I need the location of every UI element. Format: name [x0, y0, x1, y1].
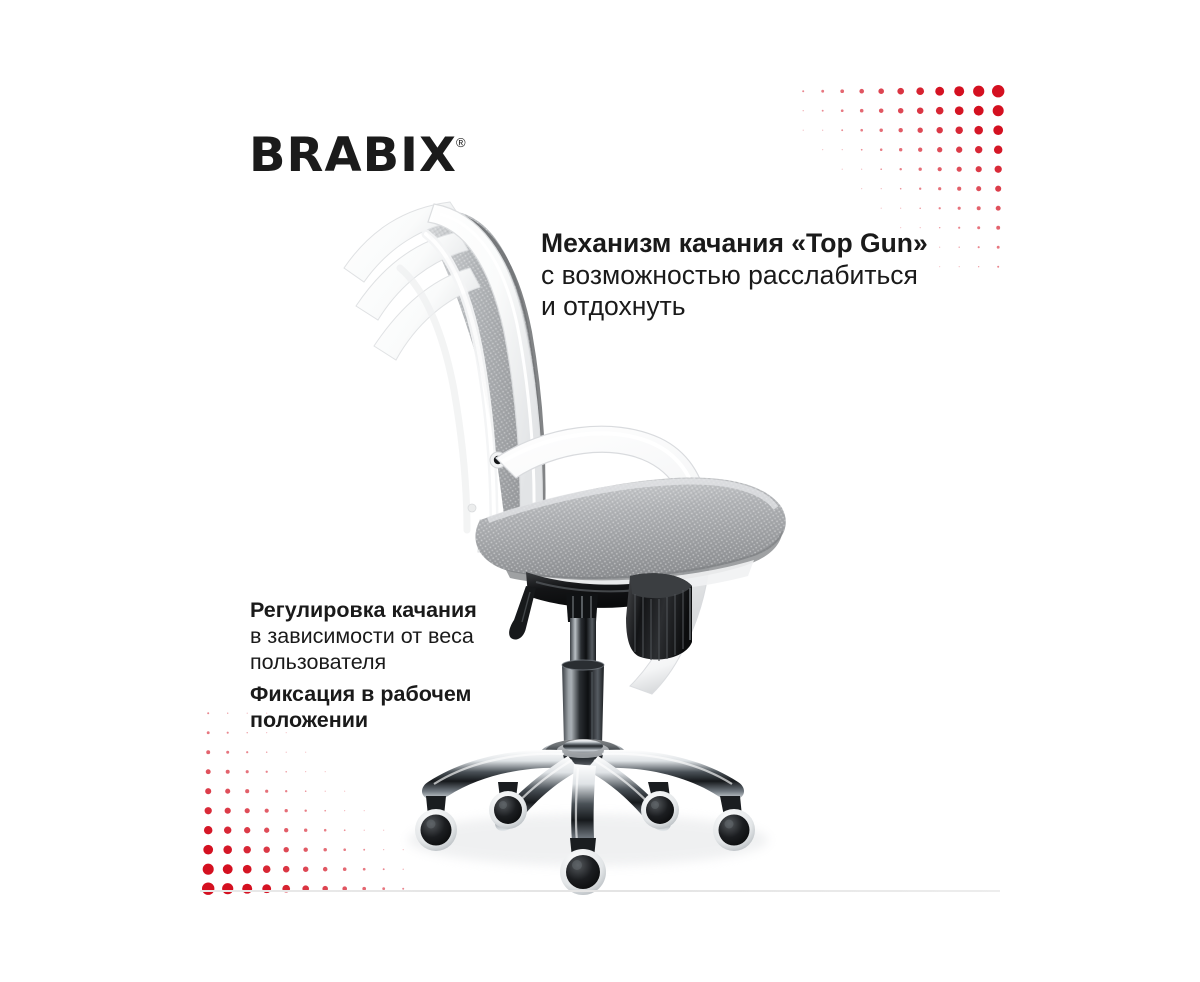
caster: [641, 782, 679, 829]
caster: [489, 782, 527, 829]
callout-lock-line-2: положении: [250, 707, 471, 733]
callout-tension-line-3: пользователя: [250, 649, 477, 675]
callout-tension-adjustment: Регулировка качания в зависимости от вес…: [250, 597, 477, 675]
registered-trademark-icon: ®: [456, 136, 466, 149]
callout-top-gun-line-1: Механизм качания «Top Gun»: [541, 228, 928, 260]
callout-tension-line-2: в зависимости от веса: [250, 623, 477, 649]
caster: [713, 796, 755, 851]
lock-lever: [509, 586, 536, 640]
callout-top-gun-line-3: и отдохнуть: [541, 291, 928, 323]
chair-backrest: [344, 202, 544, 562]
bottom-separator-line: [200, 890, 1000, 892]
banner-canvas: BRABIX ®: [0, 0, 1200, 982]
callout-lock-line-1: Фиксация в рабочем: [250, 681, 471, 707]
tension-knob: [626, 573, 692, 661]
brabix-wordmark: BRABIX: [249, 132, 457, 179]
callout-tension-line-1: Регулировка качания: [250, 597, 477, 623]
caster: [415, 796, 457, 851]
tilt-mechanism: [509, 572, 692, 661]
callout-top-gun-line-2: с возможностью расслабиться: [541, 260, 928, 292]
callout-top-gun: Механизм качания «Top Gun» с возможность…: [541, 228, 928, 323]
callout-position-lock: Фиксация в рабочем положении: [250, 681, 471, 733]
brabix-logo: BRABIX ®: [249, 132, 466, 179]
